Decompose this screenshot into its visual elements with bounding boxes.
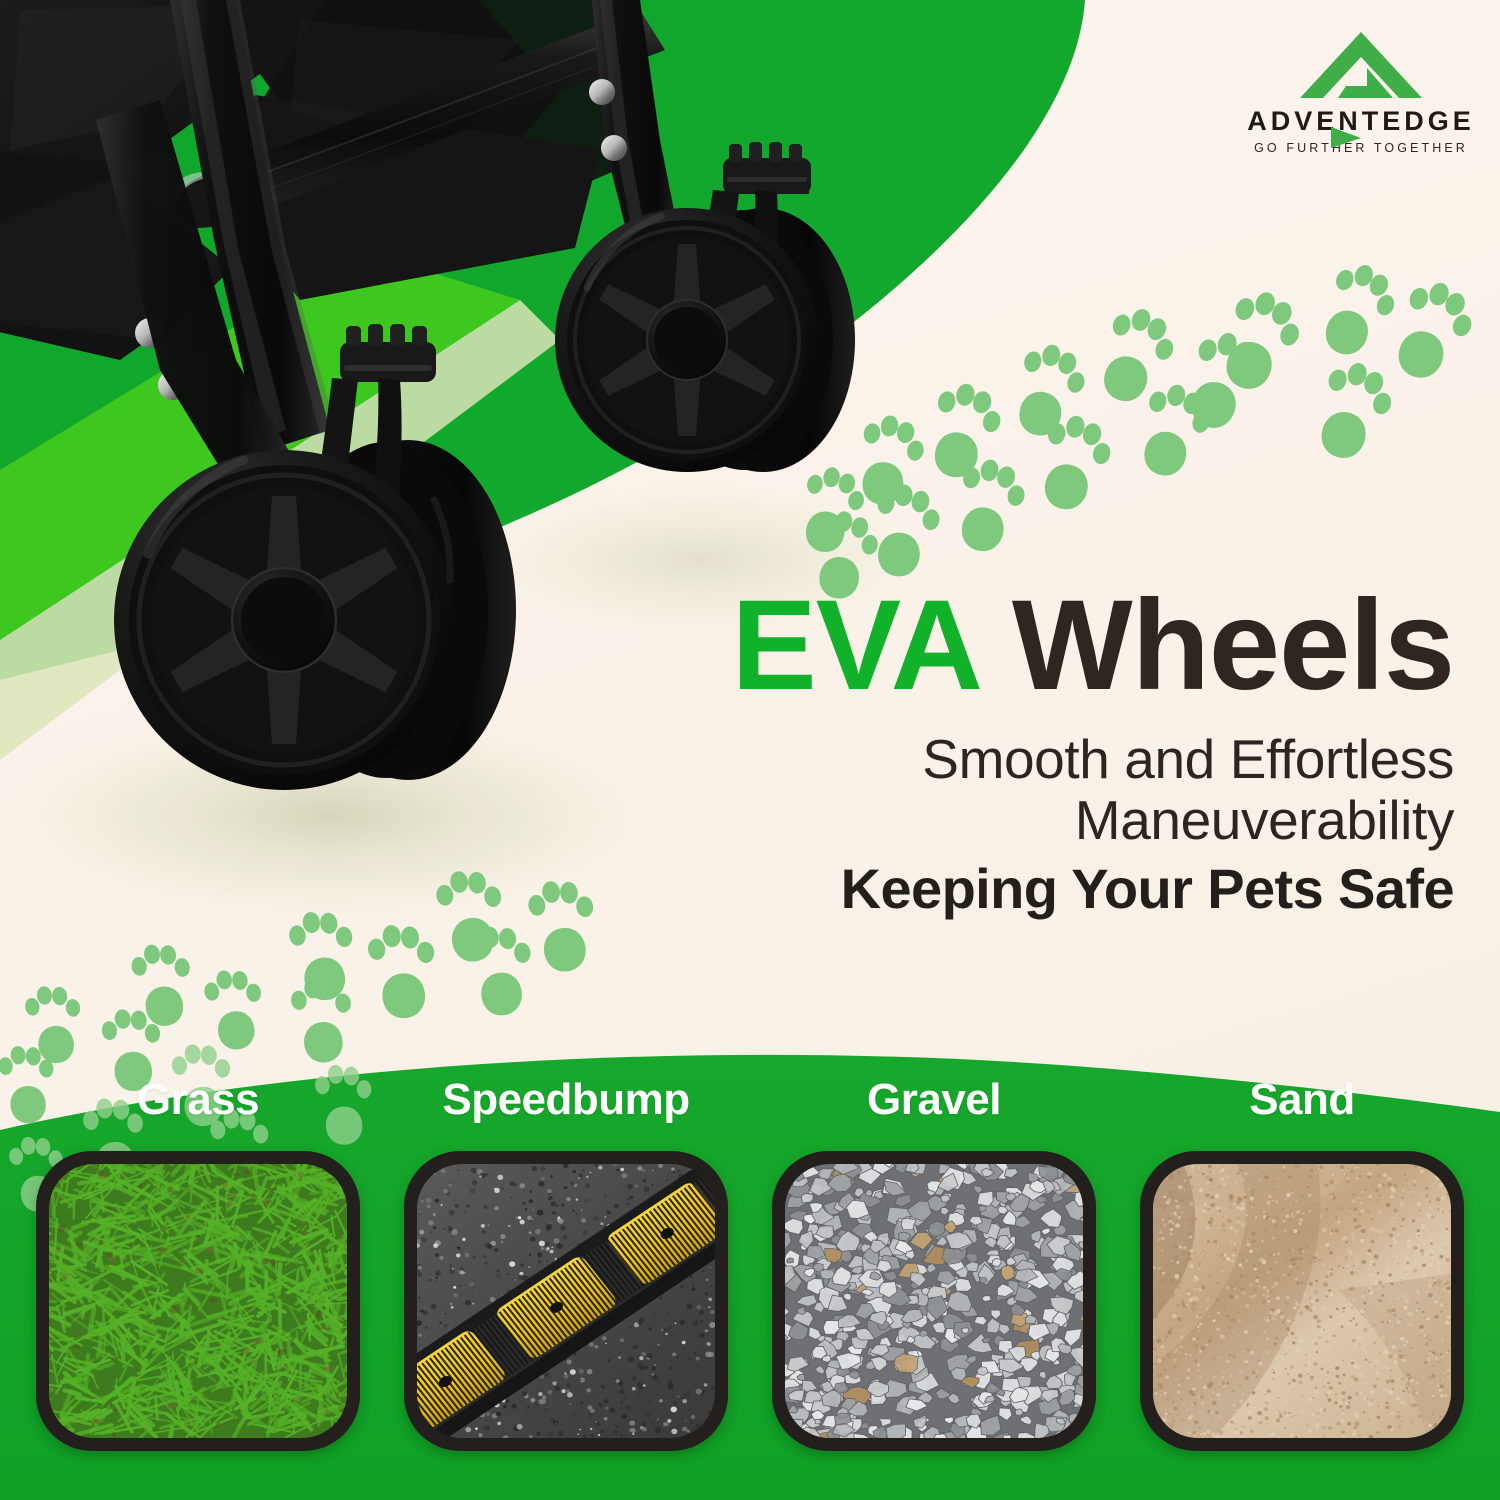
title-wheels: Wheels xyxy=(1012,574,1454,717)
terrain-item-sand[interactable]: Sand xyxy=(1132,1030,1472,1500)
headline-block: EVA Wheels Smooth and Effortless Maneuve… xyxy=(524,585,1454,921)
frame-rivet xyxy=(589,79,615,105)
sand-texture xyxy=(1153,1164,1451,1438)
page-title: EVA Wheels xyxy=(524,585,1454,707)
subtitle-line-2: Maneuverability xyxy=(524,790,1454,852)
terrain-label-sand: Sand xyxy=(1249,1078,1355,1122)
play-arrow-icon xyxy=(1328,124,1364,150)
terrain-card-sand[interactable] xyxy=(1140,1151,1464,1451)
terrain-item-speedbump[interactable]: Speedbump xyxy=(396,1030,736,1500)
terrain-card-speedbump[interactable] xyxy=(404,1151,728,1451)
grass-texture xyxy=(49,1164,347,1438)
subtitle-line-3: Keeping Your Pets Safe xyxy=(524,858,1454,921)
terrain-strip: Grass Speedbump xyxy=(0,1030,1500,1500)
triangle-a-logo-icon xyxy=(1236,28,1486,106)
frame-rivet xyxy=(601,135,627,161)
terrain-label-speedbump: Speedbump xyxy=(442,1078,689,1122)
brand-logo: ADVENTEDGE GO FURTHER TOGETHER xyxy=(1236,28,1486,155)
terrain-card-gravel[interactable] xyxy=(772,1151,1096,1451)
terrain-item-grass[interactable]: Grass xyxy=(28,1030,368,1500)
terrain-card-grass[interactable] xyxy=(36,1151,360,1451)
rear-wheel-assembly xyxy=(555,142,855,472)
terrain-label-gravel: Gravel xyxy=(867,1078,1001,1122)
subtitle-line-1: Smooth and Effortless xyxy=(524,729,1454,791)
speedbump-texture xyxy=(417,1164,715,1438)
terrain-row: Grass Speedbump xyxy=(0,1030,1500,1500)
gravel-texture xyxy=(785,1164,1083,1438)
terrain-label-grass: Grass xyxy=(137,1078,259,1122)
infographic-canvas: ADVENTEDGE GO FURTHER TOGETHER EVA Wheel… xyxy=(0,0,1500,1500)
title-eva: EVA xyxy=(731,574,977,717)
terrain-item-gravel[interactable]: Gravel xyxy=(764,1030,1104,1500)
